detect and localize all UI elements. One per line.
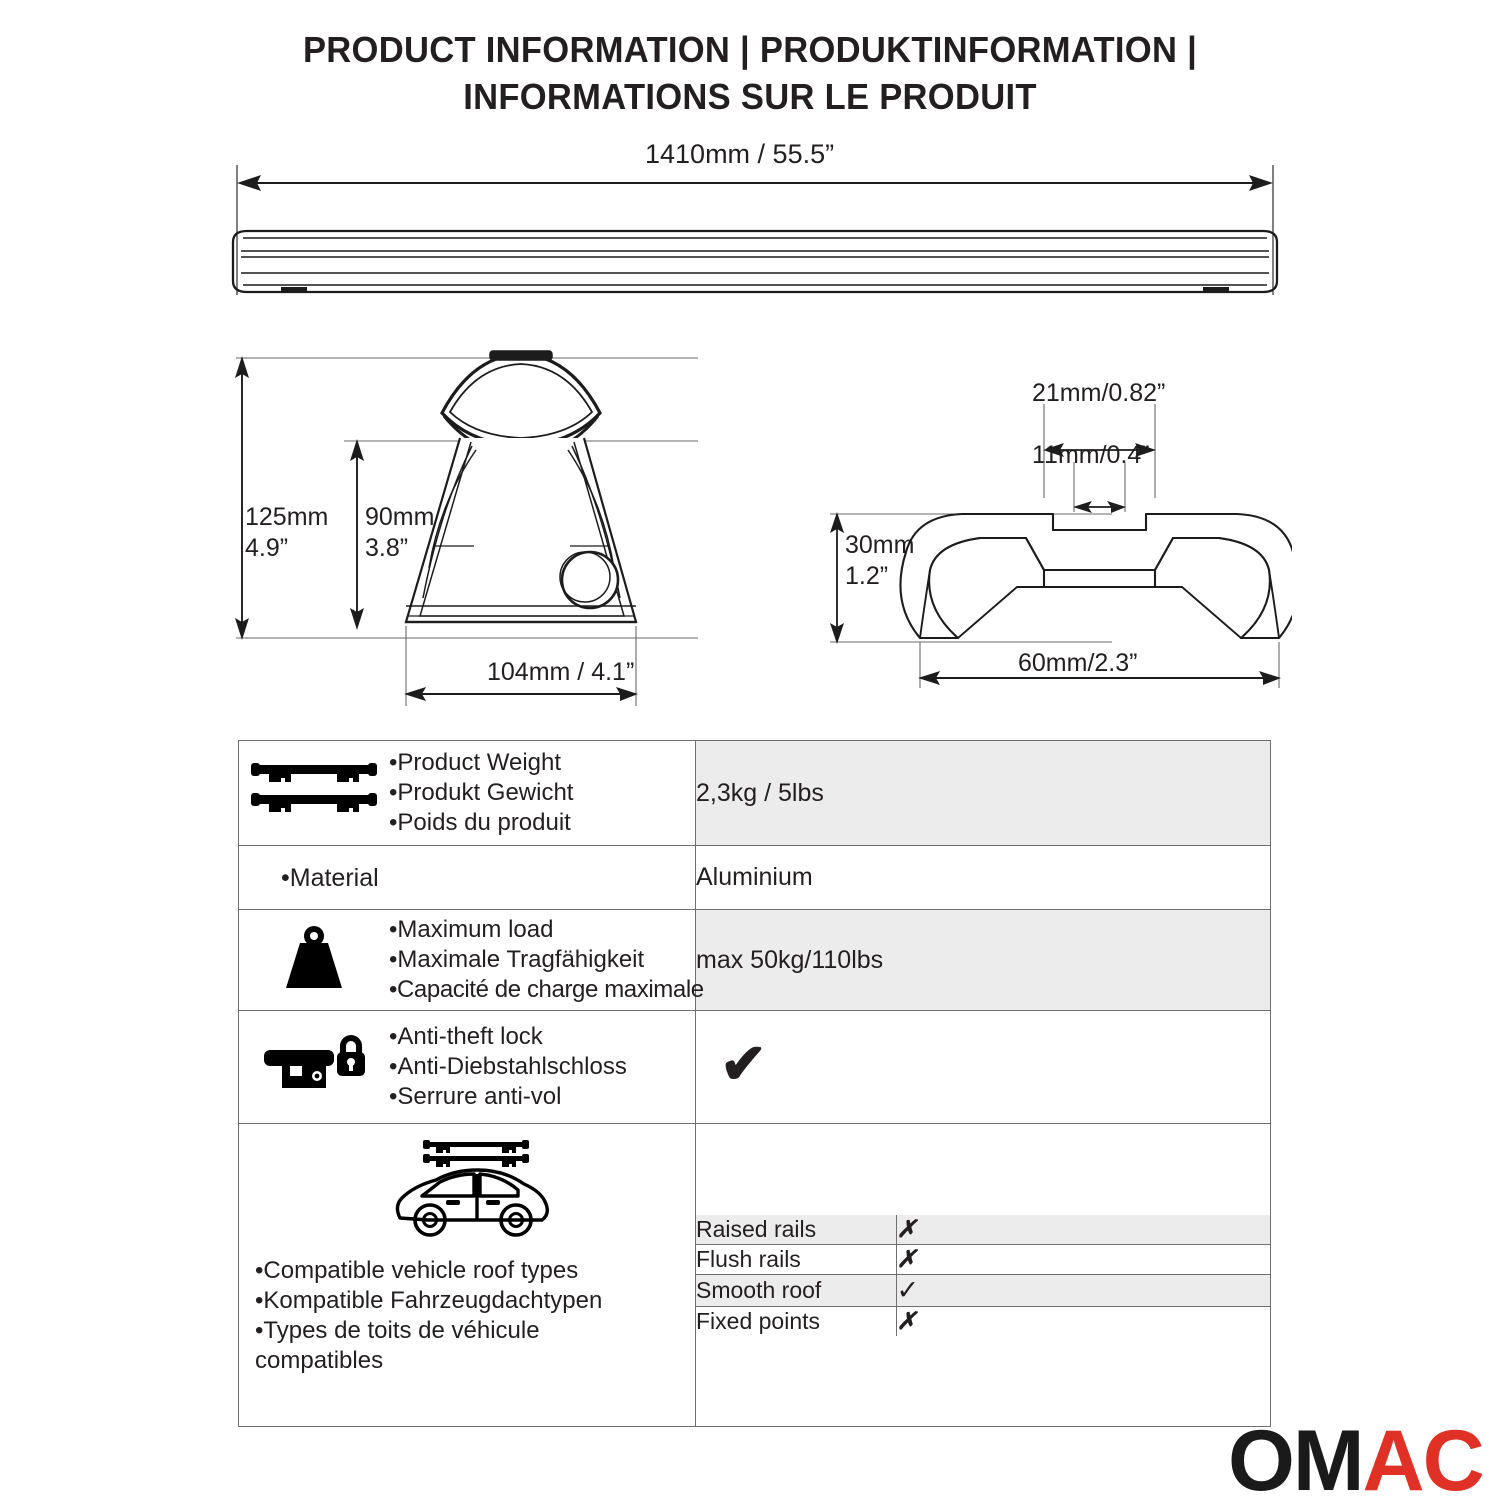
- roof-bar-length-diagram: [225, 165, 1285, 310]
- tower-total-height-mm: 125mm: [245, 503, 328, 531]
- spec-label-line: •Maximum load: [389, 915, 704, 945]
- roof-type-name: Raised rails: [696, 1215, 896, 1245]
- roof-type-row: Flush rails ✗: [696, 1244, 1270, 1274]
- spec-label-max-load-text: •Maximum load •Maximale Tragfähigkeit •C…: [389, 915, 704, 1005]
- roof-type-mark-flush-rails: ✗: [896, 1244, 1270, 1274]
- table-row: •Anti-theft lock •Anti-Diebstahlschloss …: [239, 1011, 1271, 1124]
- spec-label-line: •Anti-Diebstahlschloss: [389, 1052, 695, 1082]
- table-row: •Compatible vehicle roof types •Kompatib…: [239, 1124, 1271, 1427]
- spec-label-roof-types: •Compatible vehicle roof types •Kompatib…: [239, 1124, 696, 1427]
- roof-types-subtable-cell: Raised rails ✗ Flush rails ✗ Smooth roof…: [696, 1124, 1271, 1427]
- spec-label-material: •Material: [239, 846, 696, 910]
- roof-type-row: Fixed points ✗: [696, 1306, 1270, 1336]
- spec-label-weight-text: •Product Weight •Produkt Gewicht •Poids …: [389, 748, 695, 838]
- spec-label-line: •Poids du produit: [389, 808, 695, 838]
- tower-inner-height-label: 90mm 3.8”: [365, 502, 434, 564]
- spec-value-lock: ✔: [696, 1011, 1271, 1124]
- roof-type-row: Raised rails ✗: [696, 1215, 1270, 1245]
- roof-type-name: Fixed points: [696, 1306, 896, 1336]
- roof-types-subtable: Raised rails ✗ Flush rails ✗ Smooth roof…: [696, 1215, 1270, 1336]
- spec-label-line: •Anti-theft lock: [389, 1022, 695, 1052]
- page-title-line-2: INFORMATIONS SUR LE PRODUIT: [30, 73, 1470, 120]
- weight-icon: [239, 924, 389, 996]
- spec-value-weight: 2,3kg / 5lbs: [696, 741, 1271, 846]
- spec-label-max-load: •Maximum load •Maximale Tragfähigkeit •C…: [239, 910, 696, 1011]
- spec-value-material: Aluminium: [696, 846, 1271, 910]
- roof-bars-icon: [239, 759, 389, 827]
- spec-label-line: •Kompatible Fahrzeugdachtypen: [255, 1286, 685, 1316]
- spec-label-line: •Serrure anti-vol: [389, 1082, 695, 1112]
- lock-icon: [239, 1032, 389, 1102]
- spec-label-line: •Capacité de charge maximale: [389, 975, 704, 1005]
- spec-label-line: •Produkt Gewicht: [389, 778, 695, 808]
- lock-check-icon: ✔: [696, 1032, 1270, 1102]
- roof-type-mark-raised-rails: ✗: [896, 1215, 1270, 1245]
- table-row: •Product Weight •Produkt Gewicht •Poids …: [239, 741, 1271, 846]
- spec-label-lock-text: •Anti-theft lock •Anti-Diebstahlschloss …: [389, 1022, 695, 1112]
- spec-value-max-load: max 50kg/110lbs: [696, 910, 1271, 1011]
- spec-label-line: •Maximale Tragfähigkeit: [389, 945, 704, 975]
- page-title: PRODUCT INFORMATION | PRODUKTINFORMATION…: [0, 26, 1500, 120]
- spec-label-line: •Product Weight: [389, 748, 695, 778]
- roof-type-mark-smooth-roof: ✓: [896, 1274, 1270, 1306]
- spec-label-line: compatibles: [255, 1346, 685, 1376]
- tower-width-label: 104mm / 4.1”: [487, 657, 634, 688]
- omac-logo: OMAC: [1228, 1424, 1500, 1498]
- table-row: •Material Aluminium: [239, 846, 1271, 910]
- spec-label-lock: •Anti-theft lock •Anti-Diebstahlschloss …: [239, 1011, 696, 1124]
- table-row: •Maximum load •Maximale Tragfähigkeit •C…: [239, 910, 1271, 1011]
- spec-label-roof-types-text: •Compatible vehicle roof types •Kompatib…: [255, 1256, 685, 1376]
- roof-type-mark-fixed-points: ✗: [896, 1306, 1270, 1336]
- car-with-rack-icon: [255, 1136, 685, 1250]
- roof-type-name: Smooth roof: [696, 1274, 896, 1306]
- omac-logo-red-part: AC: [1363, 1424, 1483, 1498]
- roof-type-name: Flush rails: [696, 1244, 896, 1274]
- bar-cross-section-diagram: [812, 402, 1292, 692]
- page-title-line-1: PRODUCT INFORMATION | PRODUKTINFORMATION…: [30, 26, 1470, 73]
- spec-label-weight: •Product Weight •Produkt Gewicht •Poids …: [239, 741, 696, 846]
- tower-inner-height-in: 3.8”: [365, 534, 408, 562]
- tower-inner-height-mm: 90mm: [365, 503, 434, 531]
- omac-logo-dark-part: OM: [1228, 1424, 1363, 1498]
- tower-total-height-label: 125mm 4.9”: [245, 502, 328, 564]
- spec-label-line: •Types de toits de véhicule: [255, 1316, 685, 1346]
- tower-total-height-in: 4.9”: [245, 534, 288, 562]
- roof-type-row: Smooth roof ✓: [696, 1274, 1270, 1306]
- spec-label-line: •Compatible vehicle roof types: [255, 1256, 685, 1286]
- product-spec-table: •Product Weight •Produkt Gewicht •Poids …: [238, 740, 1271, 1427]
